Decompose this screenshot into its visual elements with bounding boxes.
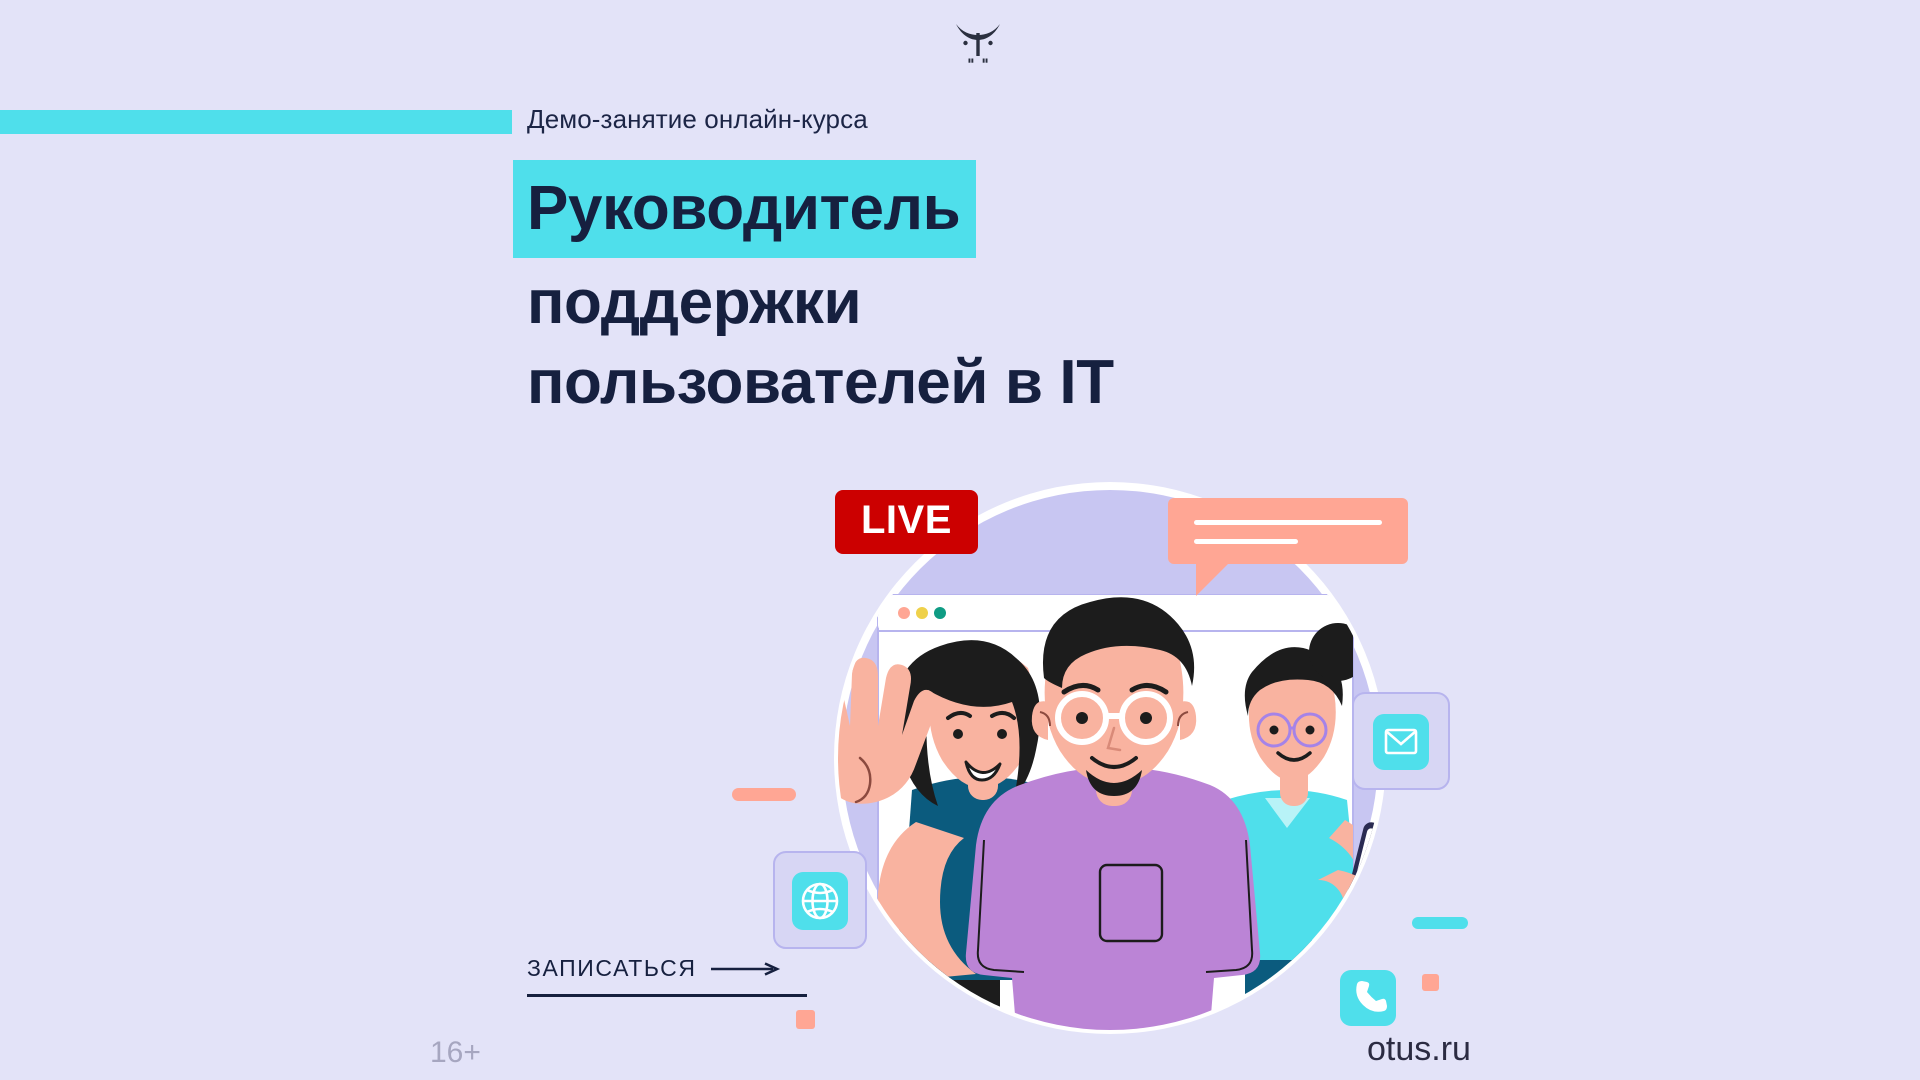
slide-root: Демо-занятие онлайн-курса Руководитель п… — [0, 0, 1920, 1080]
window-dot-pink — [898, 607, 910, 619]
mail-icon-card — [1353, 693, 1449, 789]
otus-bull-logo-icon — [948, 18, 1008, 64]
site-url: otus.ru — [1367, 1030, 1471, 1069]
hero-illustration — [700, 440, 1480, 1080]
eyebrow-label: Демо-занятие онлайн-курса — [527, 104, 868, 135]
headline-line-3: пользователей в IT — [527, 348, 1427, 418]
phone-icon-card — [1340, 970, 1396, 1026]
live-badge: LIVE — [835, 490, 978, 554]
window-dot-yellow — [916, 607, 928, 619]
window-dot-teal — [934, 607, 946, 619]
headline-line-1: Руководитель — [513, 160, 976, 258]
headline-line-2: поддержки — [527, 268, 1427, 338]
age-rating: 16+ — [430, 1036, 481, 1070]
cyan-rule — [0, 110, 512, 134]
signup-underline — [527, 994, 807, 997]
globe-icon-card — [774, 852, 866, 948]
mail-icon — [1373, 714, 1429, 770]
arrow-right-icon — [711, 962, 807, 976]
page-title: Руководитель поддержки пользователей в I… — [527, 160, 1427, 418]
signup-button-label: ЗАПИСАТЬСЯ — [527, 955, 697, 982]
signup-button[interactable]: ЗАПИСАТЬСЯ — [527, 955, 807, 997]
